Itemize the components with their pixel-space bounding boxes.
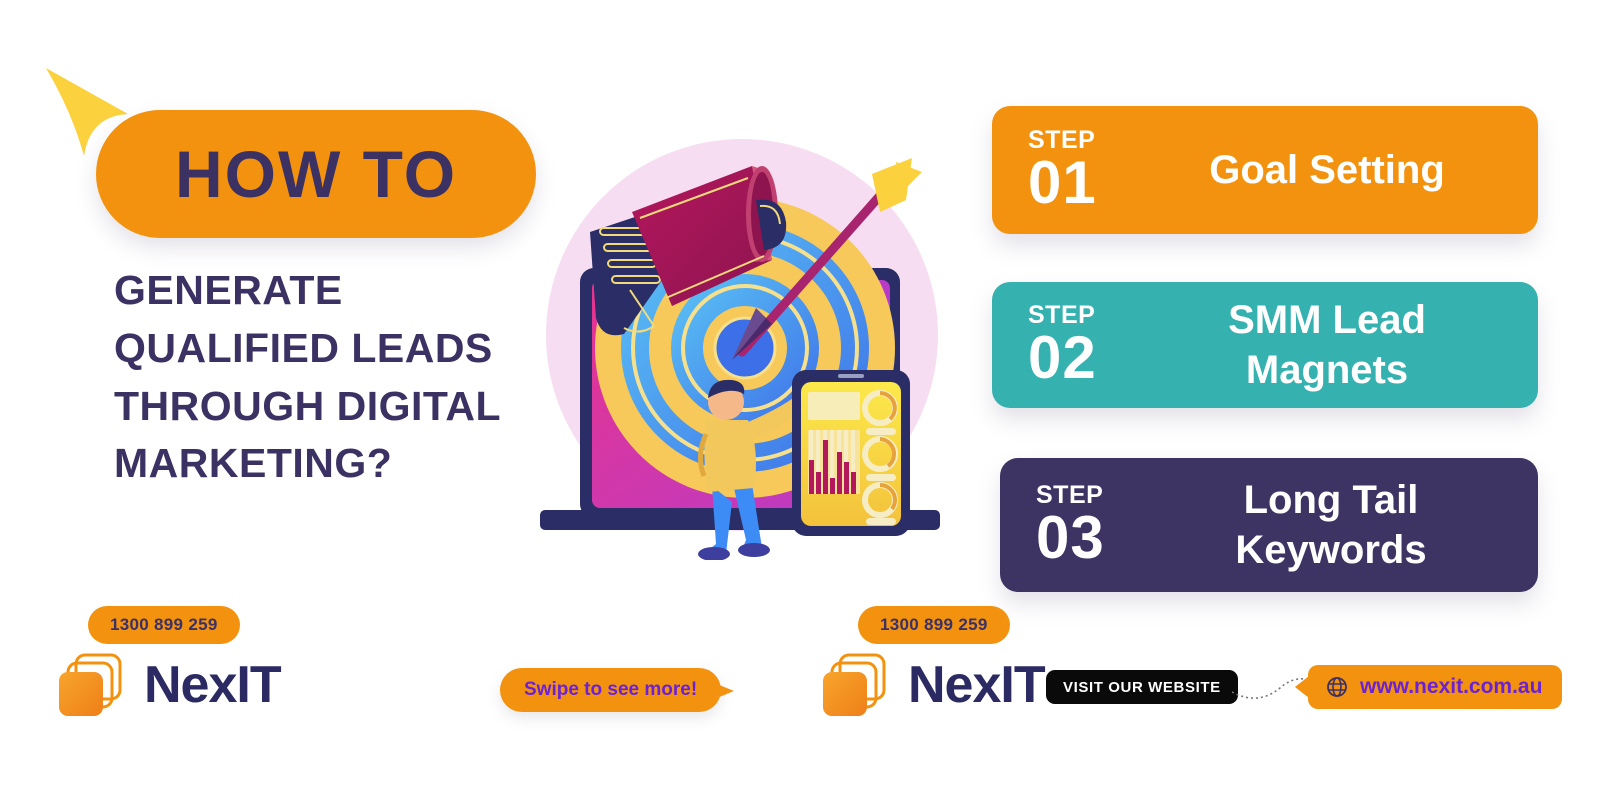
- website-url-label: www.nexit.com.au: [1360, 675, 1542, 699]
- nexit-logo-mark-icon: [820, 652, 894, 718]
- how-to-label: HOW TO: [175, 136, 457, 212]
- phone-badge[interactable]: 1300 899 259: [858, 606, 1010, 644]
- nexit-logo-mark-icon: [56, 652, 130, 718]
- step-card-02[interactable]: STEP 02 SMM Lead Magnets: [992, 282, 1538, 408]
- brand-logo: NexIT: [56, 652, 281, 718]
- swipe-label: Swipe to see more!: [524, 679, 697, 701]
- brand-name: NexIT: [908, 655, 1045, 715]
- step-title: Goal Setting: [1142, 145, 1538, 195]
- website-url-tag[interactable]: www.nexit.com.au: [1308, 665, 1562, 709]
- globe-icon: [1326, 676, 1348, 698]
- swipe-hint-button[interactable]: Swipe to see more!: [500, 668, 721, 712]
- swipe-bubble-tail: [712, 682, 734, 700]
- how-to-badge: HOW TO: [96, 110, 536, 238]
- step-number-block: STEP 03: [1000, 482, 1150, 568]
- step-title: SMM Lead Magnets: [1142, 295, 1538, 395]
- brand-name: NexIT: [144, 655, 281, 715]
- step-card-03[interactable]: STEP 03 Long Tail Keywords: [1000, 458, 1538, 592]
- step-number: 02: [1028, 328, 1142, 388]
- visit-website-button[interactable]: VISIT OUR WEBSITE: [1046, 670, 1238, 704]
- page-title: GENERATE QUALIFIED LEADS THROUGH DIGITAL…: [114, 262, 554, 493]
- phone-badge[interactable]: 1300 899 259: [88, 606, 240, 644]
- visit-website-label: VISIT OUR WEBSITE: [1063, 679, 1221, 696]
- digital-marketing-illustration: [520, 120, 960, 560]
- step-title: Long Tail Keywords: [1150, 475, 1538, 575]
- brand-logo: NexIT: [820, 652, 1045, 718]
- poster-canvas: HOW TO GENERATE QUALIFIED LEADS THROUGH …: [0, 0, 1600, 800]
- step-number: 01: [1028, 153, 1142, 213]
- step-number: 03: [1036, 508, 1150, 568]
- step-number-block: STEP 02: [992, 302, 1142, 388]
- step-number-block: STEP 01: [992, 127, 1142, 213]
- step-card-01[interactable]: STEP 01 Goal Setting: [992, 106, 1538, 234]
